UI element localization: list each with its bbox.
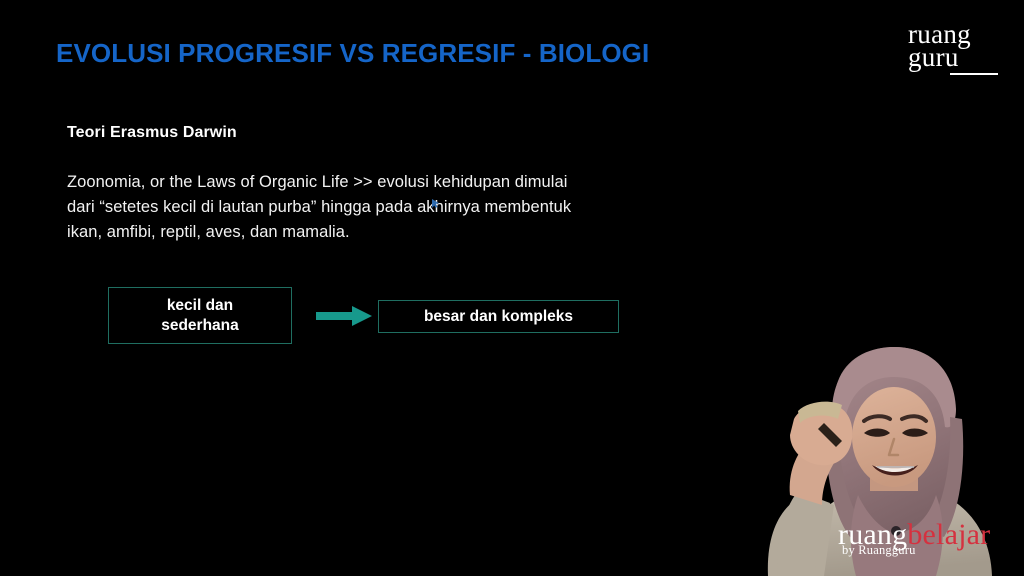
ruangbelajar-watermark: ruangbelajar by Ruangguru [838, 520, 990, 550]
watermark-subtitle: by Ruangguru [842, 544, 916, 557]
paragraph-line-3: ikan, amfibi, reptil, aves, dan mamalia. [67, 220, 667, 245]
flow-box-right-label: besar dan kompleks [424, 308, 573, 326]
section-subheading: Teori Erasmus Darwin [67, 124, 237, 142]
paragraph-line-1: Zoonomia, or the Laws of Organic Life >>… [67, 170, 667, 195]
paragraph-line-2: dari “setetes kecil di lautan purba” hin… [67, 195, 667, 220]
ruangguru-logo: ruang guru [902, 22, 1006, 78]
flow-box-left-line1: kecil dan [167, 297, 233, 314]
slide-canvas: EVOLUSI PROGRESIF VS REGRESIF - BIOLOGI … [0, 0, 1024, 576]
logo-underline [950, 73, 998, 75]
arrow-right-icon [316, 305, 372, 327]
flow-box-left-line2: sederhana [161, 317, 239, 334]
flow-box-small-simple[interactable]: kecil dan sederhana [108, 287, 292, 344]
body-paragraph: Zoonomia, or the Laws of Organic Life >>… [67, 170, 667, 245]
watermark-text-belajar: belajar [907, 518, 990, 551]
flow-box-big-complex[interactable]: besar dan kompleks [378, 300, 619, 333]
page-title: EVOLUSI PROGRESIF VS REGRESIF - BIOLOGI [56, 38, 649, 69]
logo-text-guru: guru [908, 43, 959, 71]
